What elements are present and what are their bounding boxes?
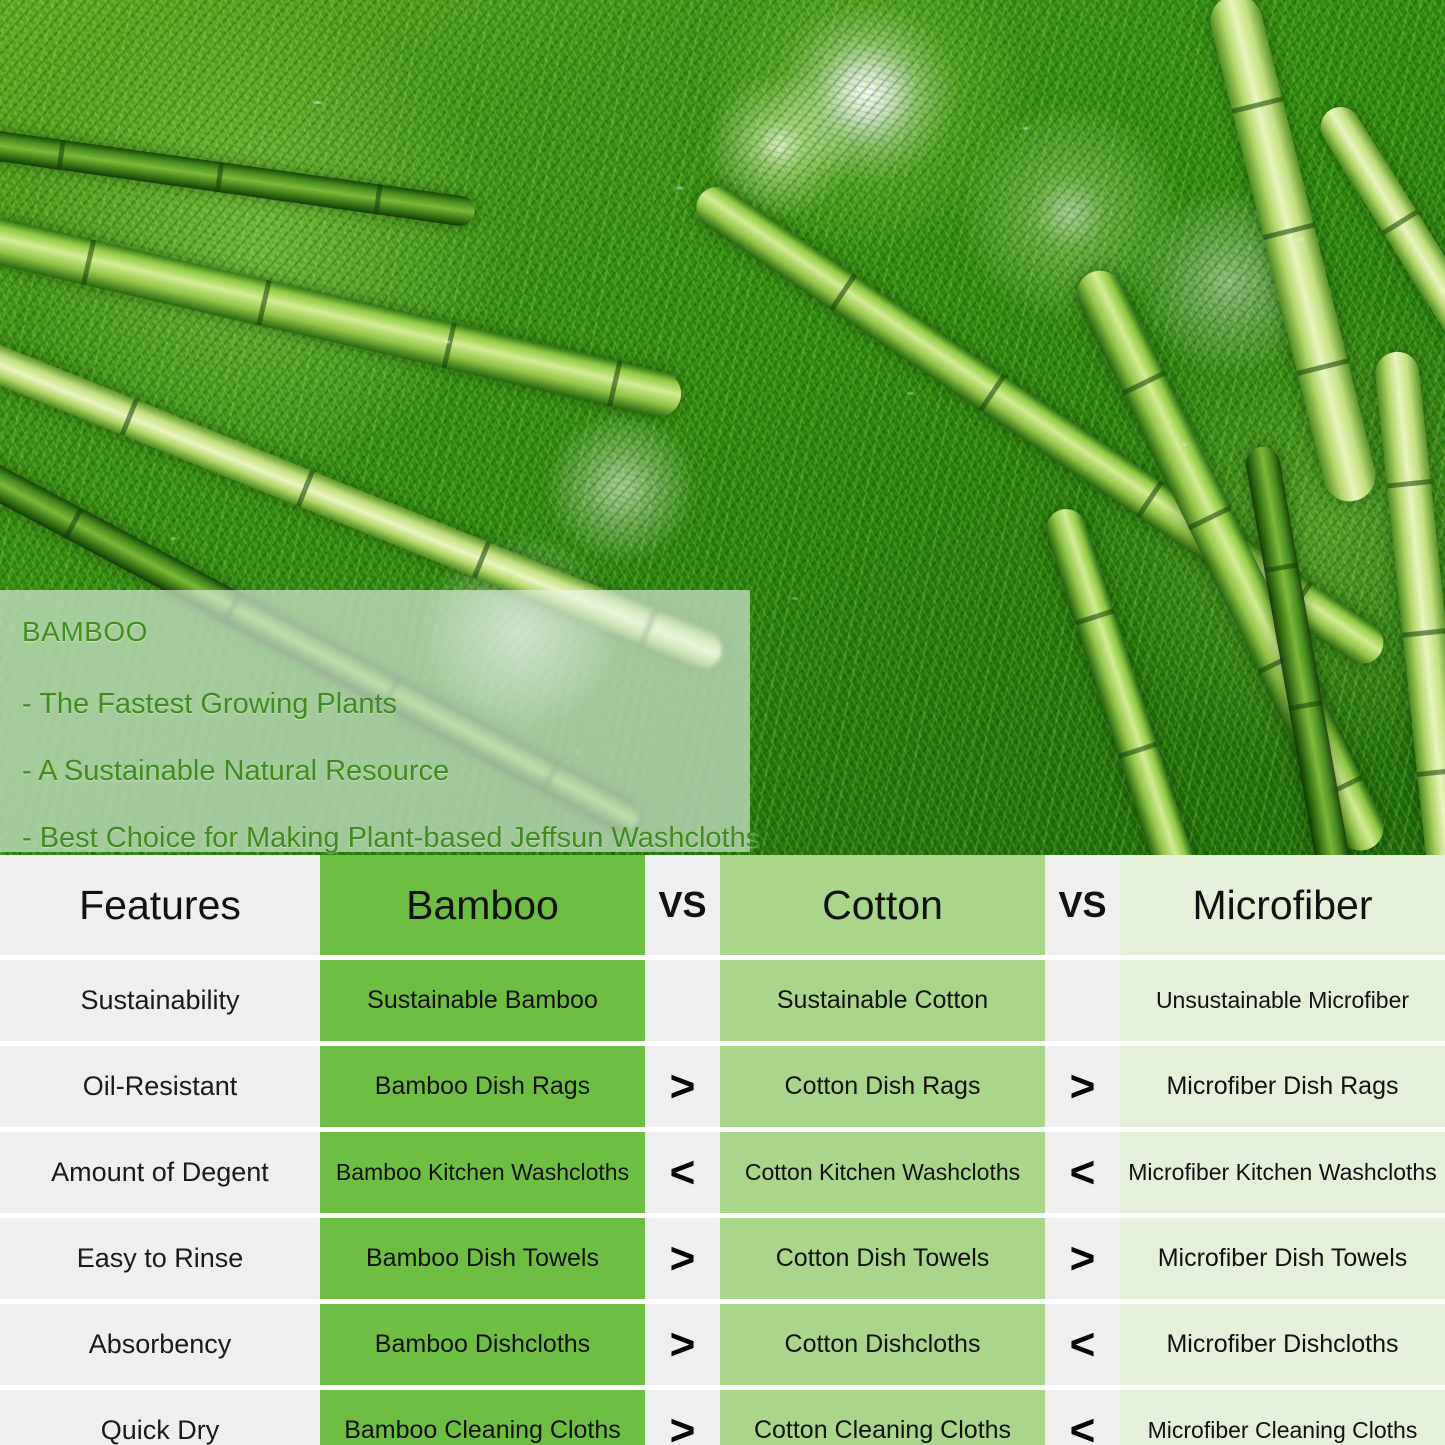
row-feature-label: Quick Dry: [101, 1415, 220, 1445]
header-cell-cotton: Cotton: [720, 855, 1045, 955]
row-cell-cotton: Cotton Kitchen Washcloths: [745, 1159, 1020, 1186]
row-cell-bamboo: Bamboo Dish Rags: [375, 1072, 590, 1101]
column-swatch-bamboo: Bamboo Cleaning Cloths: [320, 1390, 645, 1445]
cell-inner: >: [1045, 1046, 1120, 1127]
row-comparator-1: >: [670, 1065, 696, 1109]
cell-inner: >: [645, 1304, 720, 1385]
row-cell-cotton-wrap: Cotton Dish Towels: [720, 1218, 1045, 1299]
row-cell-microfiber-wrap: Microfiber Kitchen Washcloths: [1120, 1132, 1445, 1213]
vs-label-2: VS: [1058, 884, 1106, 926]
column-swatch-micro: Microfiber Dish Rags: [1120, 1046, 1445, 1127]
table-row: AbsorbencyBamboo Dishcloths>Cotton Dishc…: [0, 1304, 1445, 1385]
cell-inner: Oil-Resistant: [0, 1046, 320, 1127]
table-row: SustainabilitySustainable BambooSustaina…: [0, 960, 1445, 1041]
column-swatch-micro: Microfiber Kitchen Washcloths: [1120, 1132, 1445, 1213]
row-feature-label-wrap: Quick Dry: [0, 1390, 320, 1445]
header-cell-vs-2: VS: [1045, 855, 1120, 955]
column-swatch-micro: Microfiber Dishcloths: [1120, 1304, 1445, 1385]
row-comparator-1: >: [670, 1409, 696, 1445]
row-cell-cotton-wrap: Cotton Kitchen Washcloths: [720, 1132, 1045, 1213]
header-label-cotton: Cotton: [822, 882, 943, 929]
row-comparator-2-wrap: [1045, 960, 1120, 1041]
table-row: Quick DryBamboo Cleaning Cloths>Cotton C…: [0, 1390, 1445, 1445]
column-swatch-cotton: Cotton Dish Towels: [720, 1218, 1045, 1299]
column-swatch-bamboo: Bamboo Dish Rags: [320, 1046, 645, 1127]
column-swatch-bamboo: Bamboo Dishcloths: [320, 1304, 645, 1385]
cell-inner: >: [1045, 1218, 1120, 1299]
cell-inner: [1045, 960, 1120, 1041]
header-cell-features: Features: [0, 855, 320, 955]
bamboo-forest-photo: BAMBOO - The Fastest Growing Plants - A …: [0, 0, 1445, 855]
cell-inner: <: [1045, 1304, 1120, 1385]
column-swatch-cotton: Cotton Cleaning Cloths: [720, 1390, 1045, 1445]
row-cell-bamboo: Sustainable Bamboo: [367, 986, 598, 1015]
row-comparator-1: <: [670, 1151, 696, 1195]
row-comparator-2: <: [1070, 1151, 1096, 1195]
row-feature-label: Easy to Rinse: [77, 1243, 244, 1274]
table-row: Amount of DegentBamboo Kitchen Washcloth…: [0, 1132, 1445, 1213]
row-cell-bamboo-wrap: Bamboo Kitchen Washcloths: [320, 1132, 645, 1213]
row-cell-cotton-wrap: Cotton Dishcloths: [720, 1304, 1045, 1385]
row-comparator-1-wrap: [645, 960, 720, 1041]
cell-inner: >: [645, 1218, 720, 1299]
row-cell-microfiber: Microfiber Dish Rags: [1166, 1072, 1398, 1101]
row-feature-label: Absorbency: [89, 1329, 232, 1360]
cell-inner: Sustainability: [0, 960, 320, 1041]
cell-inner: <: [645, 1132, 720, 1213]
header-cell-vs-1: VS: [645, 855, 720, 955]
row-cell-microfiber-wrap: Microfiber Cleaning Cloths: [1120, 1390, 1445, 1445]
row-cell-cotton: Cotton Dish Rags: [785, 1072, 981, 1101]
cell-inner: [645, 960, 720, 1041]
vs-label-1: VS: [658, 884, 706, 926]
cell-inner: >: [645, 1046, 720, 1127]
overlay-title: BAMBOO: [22, 616, 750, 648]
table-body: SustainabilitySustainable BambooSustaina…: [0, 960, 1445, 1445]
row-cell-bamboo-wrap: Bamboo Dishcloths: [320, 1304, 645, 1385]
row-comparator-1-wrap: >: [645, 1304, 720, 1385]
row-cell-bamboo: Bamboo Dish Towels: [366, 1244, 599, 1273]
overlay-bullet-3: - Best Choice for Making Plant-based Jef…: [22, 824, 750, 853]
row-feature-label: Oil-Resistant: [83, 1071, 238, 1102]
cell-inner: Amount of Degent: [0, 1132, 320, 1213]
row-cell-microfiber: Microfiber Cleaning Cloths: [1148, 1417, 1418, 1444]
row-comparator-1-wrap: <: [645, 1132, 720, 1213]
row-comparator-1: >: [670, 1237, 696, 1281]
row-comparator-2: >: [1070, 1065, 1096, 1109]
row-comparator-2: <: [1070, 1323, 1096, 1367]
header-label-bamboo: Bamboo: [406, 882, 559, 929]
overlay-bullet-1: - The Fastest Growing Plants: [22, 690, 750, 719]
row-cell-bamboo: Bamboo Kitchen Washcloths: [336, 1159, 629, 1186]
row-cell-bamboo: Bamboo Dishcloths: [375, 1330, 590, 1359]
row-cell-microfiber: Unsustainable Microfiber: [1156, 987, 1409, 1014]
cell-inner: Quick Dry: [0, 1390, 320, 1445]
column-swatch-micro: Microfiber Cleaning Cloths: [1120, 1390, 1445, 1445]
row-comparator-2-wrap: >: [1045, 1046, 1120, 1127]
row-cell-bamboo-wrap: Bamboo Dish Towels: [320, 1218, 645, 1299]
row-feature-label-wrap: Amount of Degent: [0, 1132, 320, 1213]
row-cell-cotton: Cotton Dish Towels: [776, 1244, 990, 1273]
row-cell-bamboo: Bamboo Cleaning Cloths: [344, 1416, 621, 1445]
row-cell-bamboo-wrap: Bamboo Dish Rags: [320, 1046, 645, 1127]
header-label-microfiber: Microfiber: [1193, 882, 1373, 929]
comparison-table: Features Bamboo VS Cotton VS Microfiber …: [0, 855, 1445, 1445]
row-cell-microfiber: Microfiber Kitchen Washcloths: [1128, 1159, 1436, 1186]
column-swatch-bamboo: Sustainable Bamboo: [320, 960, 645, 1041]
table-row: Easy to RinseBamboo Dish Towels>Cotton D…: [0, 1218, 1445, 1299]
row-comparator-2: >: [1070, 1237, 1096, 1281]
row-comparator-1-wrap: >: [645, 1390, 720, 1445]
column-swatch-bamboo: Bamboo Dish Towels: [320, 1218, 645, 1299]
column-swatch-cotton: Cotton Kitchen Washcloths: [720, 1132, 1045, 1213]
row-cell-cotton-wrap: Sustainable Cotton: [720, 960, 1045, 1041]
row-cell-cotton: Sustainable Cotton: [777, 986, 988, 1015]
cell-inner: <: [1045, 1132, 1120, 1213]
row-cell-cotton: Cotton Dishcloths: [785, 1330, 981, 1359]
cell-inner: Easy to Rinse: [0, 1218, 320, 1299]
table-row: Oil-ResistantBamboo Dish Rags>Cotton Dis…: [0, 1046, 1445, 1127]
column-swatch-micro: Unsustainable Microfiber: [1120, 960, 1445, 1041]
row-cell-bamboo-wrap: Bamboo Cleaning Cloths: [320, 1390, 645, 1445]
column-swatch-cotton: Sustainable Cotton: [720, 960, 1045, 1041]
row-comparator-1: >: [670, 1323, 696, 1367]
header-cell-microfiber: Microfiber: [1120, 855, 1445, 955]
overlay-bullet-2: - A Sustainable Natural Resource: [22, 757, 750, 786]
column-swatch-cotton: Cotton Dish Rags: [720, 1046, 1045, 1127]
row-feature-label: Sustainability: [80, 985, 239, 1016]
row-cell-microfiber: Microfiber Dish Towels: [1158, 1244, 1408, 1273]
product-infographic-page: BAMBOO - The Fastest Growing Plants - A …: [0, 0, 1445, 1445]
header-label-features: Features: [79, 882, 241, 929]
row-comparator-2: <: [1070, 1409, 1096, 1445]
row-cell-microfiber-wrap: Microfiber Dishcloths: [1120, 1304, 1445, 1385]
row-cell-cotton: Cotton Cleaning Cloths: [754, 1416, 1011, 1445]
cell-inner: >: [645, 1390, 720, 1445]
row-feature-label: Amount of Degent: [51, 1157, 269, 1188]
column-swatch-cotton: Cotton Dishcloths: [720, 1304, 1045, 1385]
table-header-row: Features Bamboo VS Cotton VS Microfiber: [0, 855, 1445, 955]
row-cell-bamboo-wrap: Sustainable Bamboo: [320, 960, 645, 1041]
row-feature-label-wrap: Absorbency: [0, 1304, 320, 1385]
bamboo-claims-overlay: BAMBOO - The Fastest Growing Plants - A …: [0, 590, 750, 852]
row-comparator-1-wrap: >: [645, 1218, 720, 1299]
row-cell-microfiber-wrap: Microfiber Dish Towels: [1120, 1218, 1445, 1299]
row-comparator-2-wrap: <: [1045, 1132, 1120, 1213]
row-cell-microfiber-wrap: Unsustainable Microfiber: [1120, 960, 1445, 1041]
row-cell-microfiber-wrap: Microfiber Dish Rags: [1120, 1046, 1445, 1127]
column-swatch-bamboo: Bamboo Kitchen Washcloths: [320, 1132, 645, 1213]
cell-inner: Absorbency: [0, 1304, 320, 1385]
row-feature-label-wrap: Sustainability: [0, 960, 320, 1041]
row-cell-cotton-wrap: Cotton Cleaning Cloths: [720, 1390, 1045, 1445]
header-cell-bamboo: Bamboo: [320, 855, 645, 955]
row-cell-cotton-wrap: Cotton Dish Rags: [720, 1046, 1045, 1127]
row-feature-label-wrap: Easy to Rinse: [0, 1218, 320, 1299]
row-comparator-2-wrap: >: [1045, 1218, 1120, 1299]
row-comparator-2-wrap: <: [1045, 1390, 1120, 1445]
row-comparator-1-wrap: >: [645, 1046, 720, 1127]
row-cell-microfiber: Microfiber Dishcloths: [1166, 1330, 1398, 1359]
cell-inner: <: [1045, 1390, 1120, 1445]
row-comparator-2-wrap: <: [1045, 1304, 1120, 1385]
column-swatch-micro: Microfiber Dish Towels: [1120, 1218, 1445, 1299]
row-feature-label-wrap: Oil-Resistant: [0, 1046, 320, 1127]
